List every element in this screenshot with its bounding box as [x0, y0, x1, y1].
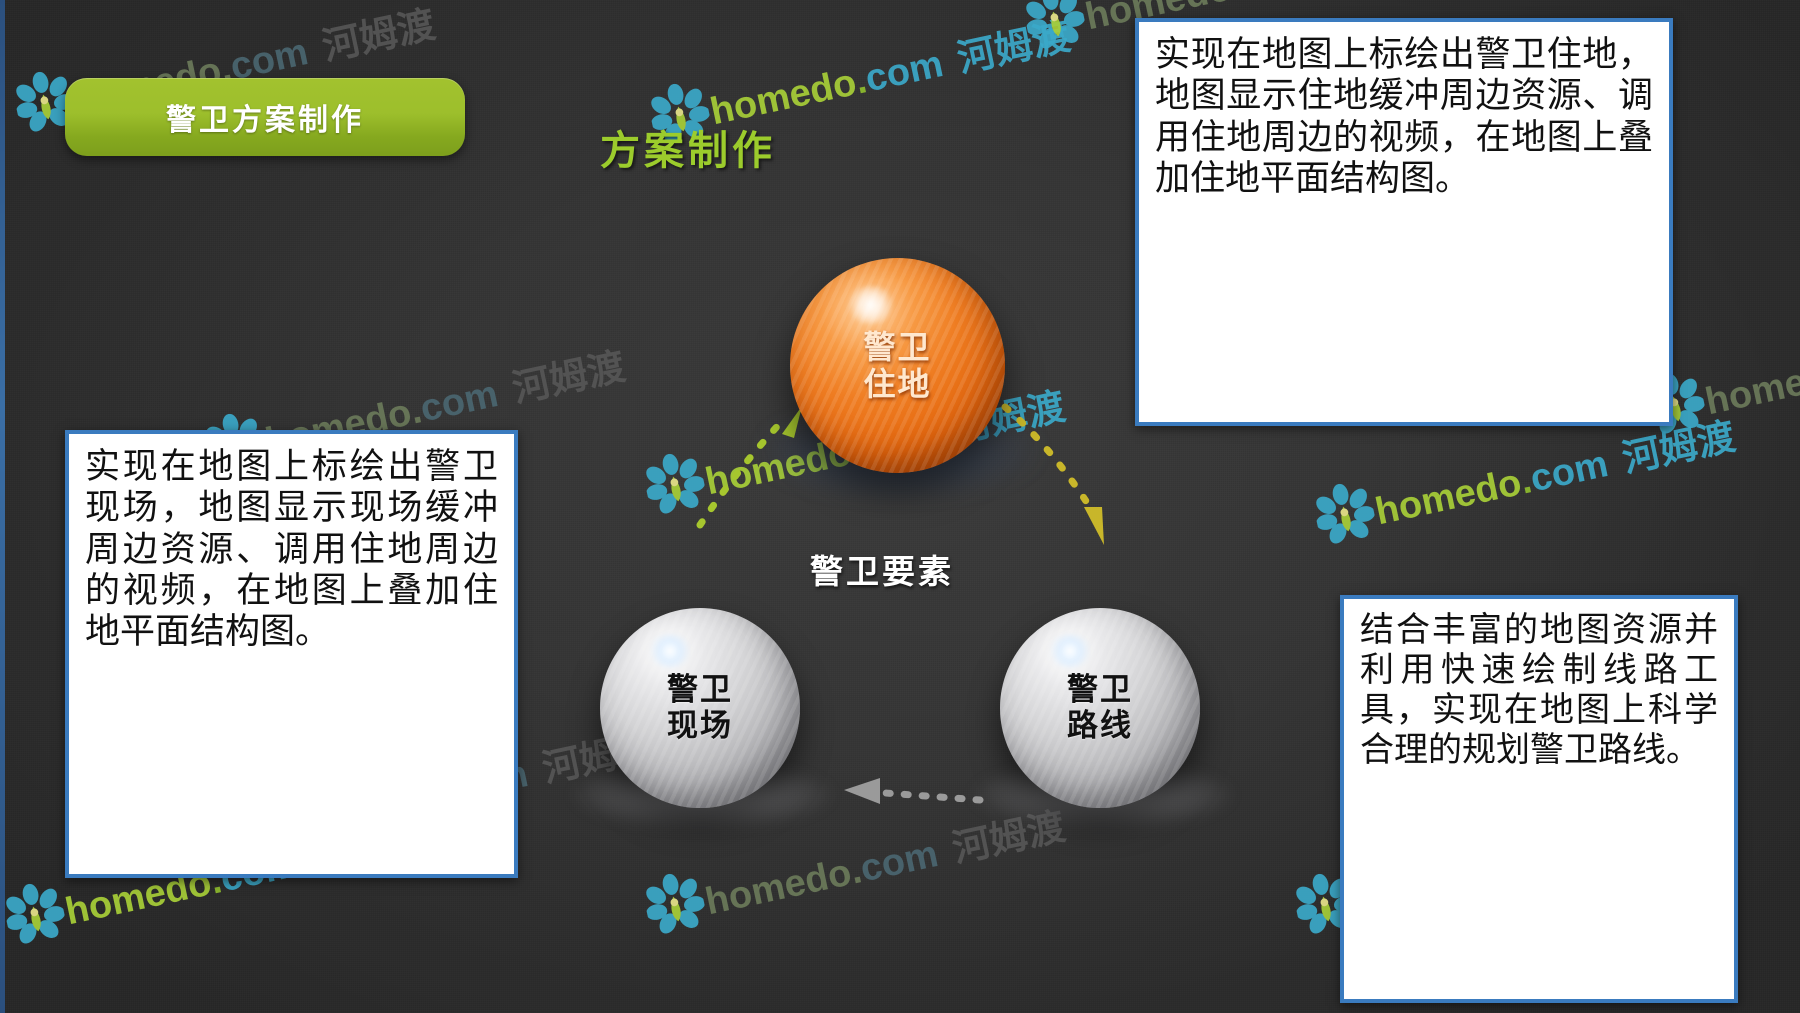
node-sphere-route[interactable]: 警卫 路线 [1000, 608, 1200, 808]
watermark-dot: . [1516, 459, 1535, 502]
node-label-scene: 警卫 现场 [600, 608, 800, 808]
callout-residence: 实现在地图上标绘出警卫住地，地图显示住地缓冲周边资源、调用住地周边的视频，在地图… [1135, 18, 1673, 426]
homedo-flower-icon [640, 868, 709, 937]
node-label-line2: 现场 [667, 708, 733, 744]
callout-route-text: 结合丰富的地图资源并利用快速绘制线路工具，实现在地图上科学合理的规划警卫路线。 [1344, 599, 1734, 783]
diagram-center-label: 警卫要素 [810, 545, 954, 593]
callout-route: 结合丰富的地图资源并利用快速绘制线路工具，实现在地图上科学合理的规划警卫路线。 [1340, 595, 1738, 1003]
watermark-com-text: com [857, 833, 942, 890]
node-label-line1: 警卫 [863, 329, 931, 366]
watermark-home-text: homedo [1702, 351, 1800, 423]
node-label-route: 警卫 路线 [1000, 608, 1200, 808]
watermark-dot: . [846, 849, 865, 892]
page-title: 方案制作 [600, 118, 776, 176]
watermark-dot: . [851, 59, 870, 102]
arrow-route-to-scene-icon [830, 770, 990, 820]
watermark-com-text: com [1527, 443, 1612, 500]
watermark-com-text: com [1237, 0, 1322, 5]
watermark-home-text: homedo [1372, 461, 1525, 533]
node-label-residence: 警卫 住地 [790, 258, 1005, 473]
header-pill-button[interactable]: 警卫方案制作 [65, 78, 465, 156]
header-pill-label: 警卫方案制作 [65, 78, 465, 156]
watermark-cn-text: 河姆渡 [319, 4, 439, 69]
node-sphere-scene[interactable]: 警卫 现场 [600, 608, 800, 808]
watermark-cn-text: 河姆渡 [954, 16, 1074, 81]
node-label-line1: 警卫 [1067, 672, 1133, 708]
slide-canvas: homedo.com河姆渡 homedo.com河姆渡 ho [0, 0, 1800, 1013]
node-sphere-residence[interactable]: 警卫 住地 [790, 258, 1005, 473]
homedo-flower-icon [640, 448, 709, 517]
node-label-line2: 住地 [863, 366, 931, 403]
watermark-com-text: com [417, 373, 502, 430]
left-edge-strip [0, 0, 5, 1013]
watermark-dot: . [406, 389, 425, 432]
callout-residence-text: 实现在地图上标绘出警卫住地，地图显示住地缓冲周边资源、调用住地周边的视频，在地图… [1139, 22, 1669, 211]
node-label-line1: 警卫 [667, 672, 733, 708]
callout-scene-text: 实现在地图上标绘出警卫现场，地图显示现场缓冲周边资源、调用住地周边的视频，在地图… [69, 434, 514, 664]
homedo-flower-icon [1310, 478, 1379, 547]
homedo-flower-icon [0, 878, 69, 947]
watermark-com-text: com [862, 43, 947, 100]
watermark-cn-text: 河姆渡 [509, 346, 629, 411]
watermark-home-text: homedo [702, 851, 855, 923]
callout-scene: 实现在地图上标绘出警卫现场，地图显示现场缓冲周边资源、调用住地周边的视频，在地图… [65, 430, 518, 878]
homedo-flower-icon [1020, 0, 1089, 52]
node-label-line2: 路线 [1067, 708, 1133, 744]
watermark-dot: . [1226, 0, 1245, 8]
